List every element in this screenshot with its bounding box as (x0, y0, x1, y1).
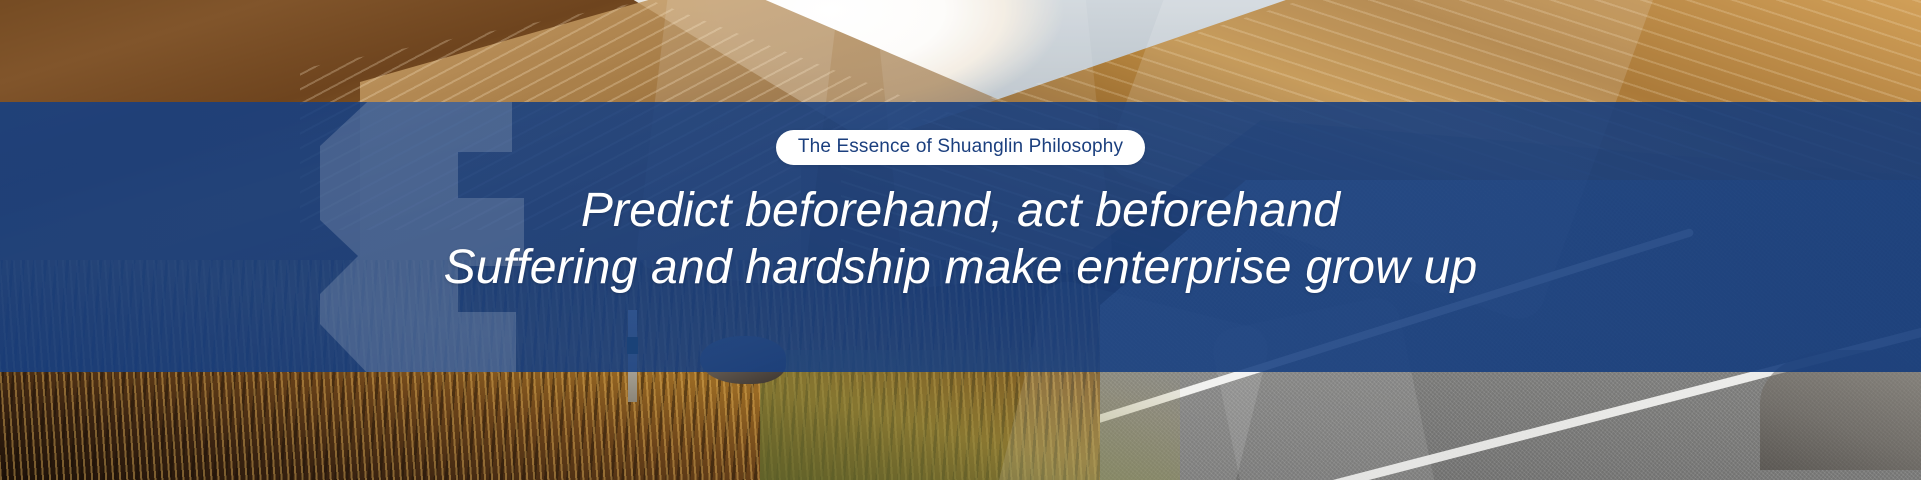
band-content: The Essence of Shuanglin Philosophy Pred… (0, 102, 1921, 372)
headline: Predict beforehand, act beforehand Suffe… (444, 183, 1478, 296)
hero-banner: The Essence of Shuanglin Philosophy Pred… (0, 0, 1921, 480)
headline-line-1: Predict beforehand, act beforehand (444, 183, 1478, 240)
headline-line-2: Suffering and hardship make enterprise g… (444, 240, 1478, 297)
blue-overlay-band: The Essence of Shuanglin Philosophy Pred… (0, 102, 1921, 372)
eyebrow-badge: The Essence of Shuanglin Philosophy (776, 130, 1145, 165)
